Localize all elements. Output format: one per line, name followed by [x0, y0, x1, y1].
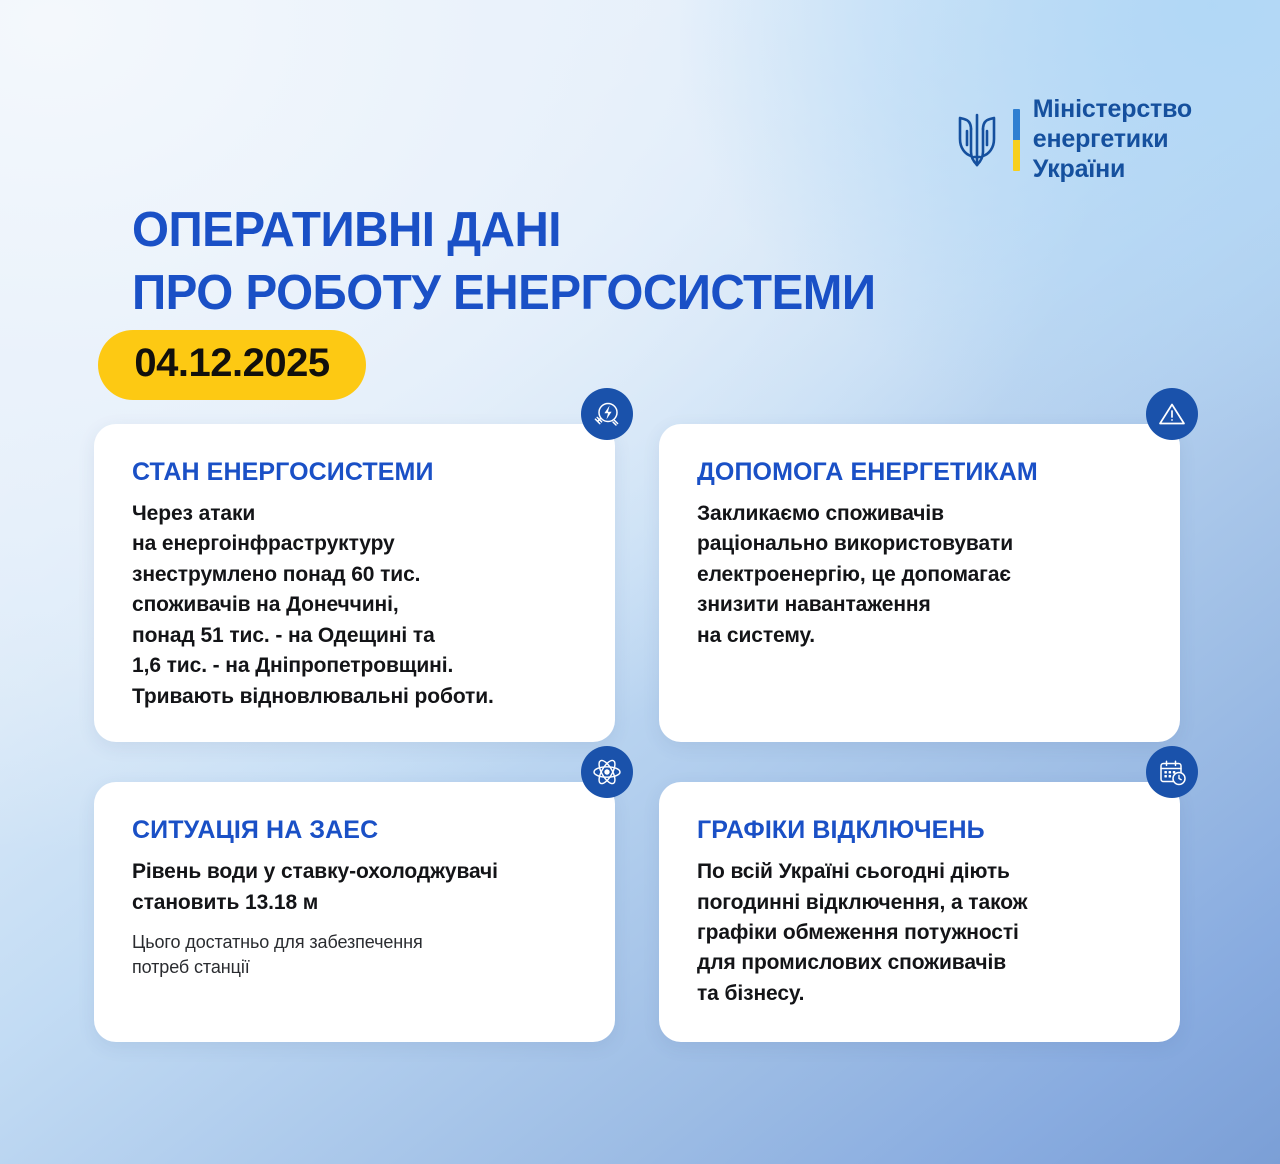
- card-note-line: Цього достатньо для забезпечення: [132, 930, 579, 956]
- card-body: По всій Україні сьогодні діють погодинні…: [697, 857, 1144, 1009]
- card-body-line: погодинні відключення, а також: [697, 888, 1144, 918]
- card-note-line: потреб станції: [132, 955, 579, 981]
- card-body-line: знизити навантаження: [697, 590, 1144, 620]
- ukraine-trident-icon: [954, 109, 1000, 171]
- card-body-line: споживачів на Донеччині,: [132, 590, 579, 620]
- energy-bolt-plug-icon: [581, 388, 633, 440]
- infographic-poster: Міністерство енергетики України ОПЕРАТИВ…: [0, 0, 1280, 1164]
- card-body-line: для промислових споживачів: [697, 948, 1144, 978]
- logo-divider-bar: [1013, 109, 1020, 171]
- card-body-line: Тривають відновлювальні роботи.: [132, 682, 579, 712]
- card-body: Через атаки на енергоінфраструктуру знес…: [132, 499, 579, 712]
- card-body-line: Рівень води у ставку-охолоджувачі: [132, 857, 579, 887]
- card-body-line: По всій Україні сьогодні діють: [697, 857, 1144, 887]
- card-title: СТАН ЕНЕРГОСИСТЕМИ: [132, 458, 579, 487]
- card-body-line: знеструмлено понад 60 тис.: [132, 560, 579, 590]
- card-body-line: 1,6 тис. - на Дніпропетровщині.: [132, 651, 579, 681]
- card-body-line: раціонально використовувати: [697, 529, 1144, 559]
- card-body-line: Закликаємо споживачів: [697, 499, 1144, 529]
- card-title: ДОПОМОГА ЕНЕРГЕТИКАМ: [697, 458, 1144, 487]
- page-title: ОПЕРАТИВНІ ДАНІ ПРО РОБОТУ ЕНЕРГОСИСТЕМИ: [132, 199, 876, 324]
- cards-grid: СТАН ЕНЕРГОСИСТЕМИ Через атаки на енерго…: [94, 424, 1180, 1042]
- card-title: СИТУАЦІЯ НА ЗАЕС: [132, 816, 579, 845]
- card-body-line: графіки обмеження потужності: [697, 918, 1144, 948]
- logo-line-1: Міністерство: [1033, 95, 1192, 125]
- card-state-of-power-system: СТАН ЕНЕРГОСИСТЕМИ Через атаки на енерго…: [94, 424, 615, 742]
- card-body-line: Через атаки: [132, 499, 579, 529]
- card-body: Закликаємо споживачів раціонально викори…: [697, 499, 1144, 651]
- card-outage-schedules: ГРАФІКИ ВІДКЛЮЧЕНЬ По всій Україні сього…: [659, 782, 1180, 1042]
- card-zaes-situation: СИТУАЦІЯ НА ЗАЕС Рівень води у ставку-ох…: [94, 782, 615, 1042]
- logo-wordmark: Міністерство енергетики України: [1033, 95, 1192, 184]
- warning-triangle-icon: [1146, 388, 1198, 440]
- card-body-line: електроенергію, це допомагає: [697, 560, 1144, 590]
- atom-icon: [581, 746, 633, 798]
- card-body-line: понад 51 тис. - на Одещині та: [132, 621, 579, 651]
- ministry-logo: Міністерство енергетики України: [954, 95, 1192, 184]
- calendar-clock-icon: [1146, 746, 1198, 798]
- card-body: Рівень води у ставку-охолоджувачі станов…: [132, 857, 579, 918]
- logo-line-3: України: [1033, 155, 1192, 185]
- card-title: ГРАФІКИ ВІДКЛЮЧЕНЬ: [697, 816, 1144, 845]
- card-body-line: становить 13.18 м: [132, 888, 579, 918]
- card-body-line: на енергоінфраструктуру: [132, 529, 579, 559]
- date-badge: 04.12.2025: [98, 330, 366, 400]
- page-title-line-2: ПРО РОБОТУ ЕНЕРГОСИСТЕМИ: [132, 262, 876, 325]
- card-note: Цього достатньо для забезпечення потреб …: [132, 930, 579, 981]
- page-title-line-1: ОПЕРАТИВНІ ДАНІ: [132, 199, 876, 262]
- card-help-energy-workers: ДОПОМОГА ЕНЕРГЕТИКАМ Закликаємо споживач…: [659, 424, 1180, 742]
- card-body-line: та бізнесу.: [697, 979, 1144, 1009]
- card-body-line: на систему.: [697, 621, 1144, 651]
- logo-line-2: енергетики: [1033, 125, 1192, 155]
